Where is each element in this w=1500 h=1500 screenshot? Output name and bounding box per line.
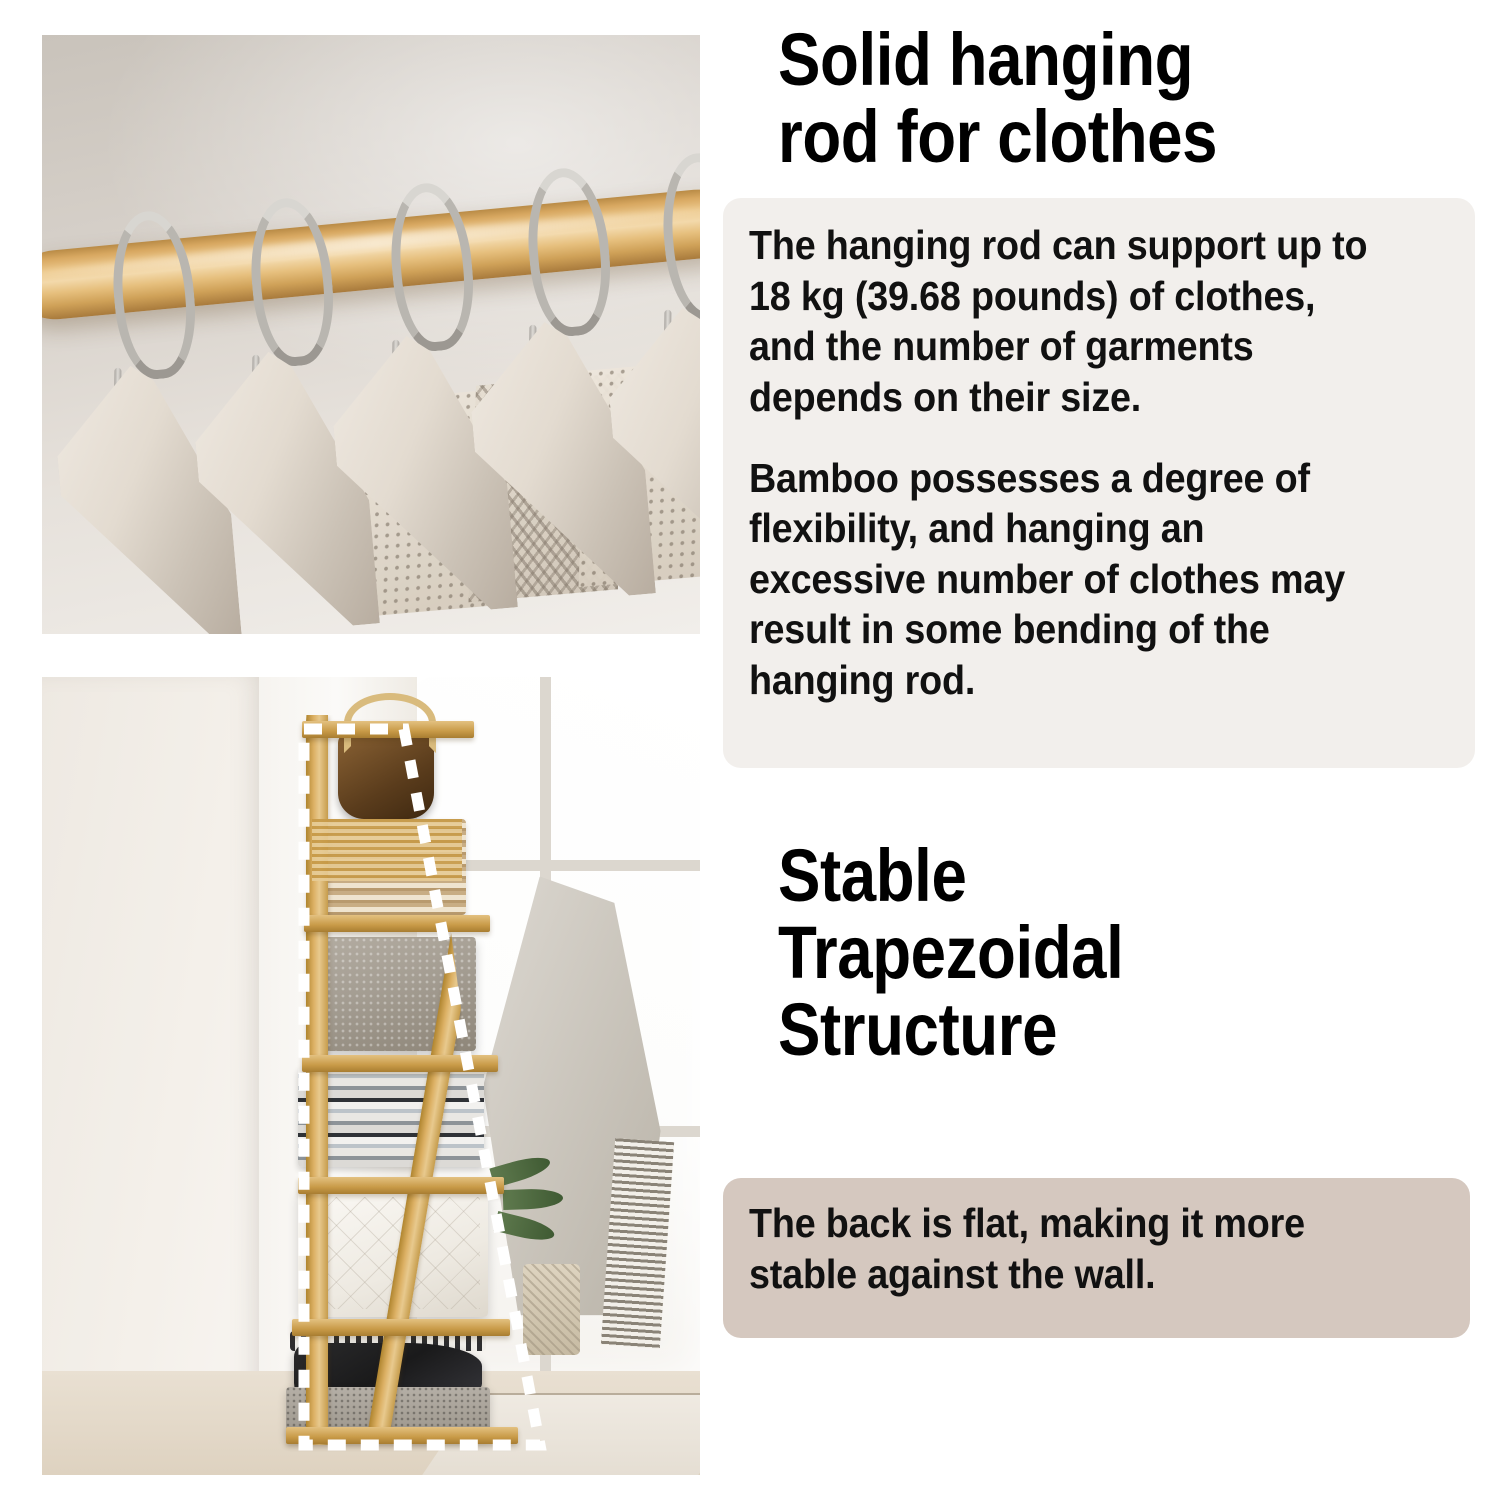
headline-trapezoidal-structure: Stable Trapezoidal Structure — [778, 838, 1123, 1069]
headline-hanging-rod: Solid hanging rod for clothes — [778, 22, 1217, 176]
caption-paragraph-flexibility: Bamboo possesses a degree of flexibility… — [749, 453, 1389, 706]
shelf-board — [304, 915, 490, 932]
shelf-board — [302, 1055, 498, 1072]
shelf-board — [298, 1177, 504, 1194]
room-wall — [42, 677, 259, 1475]
shelf-board — [286, 1427, 518, 1444]
bamboo-shelf-unit — [260, 715, 518, 1445]
caption-box-hanging-rod: The hanging rod can support up to 18 kg … — [723, 198, 1475, 768]
hanging-rod-photo — [42, 35, 700, 634]
text-column: Solid hanging rod for clothes The hangin… — [723, 0, 1483, 1500]
caption-box-stability: The back is flat, making it more stable … — [723, 1178, 1470, 1338]
potted-plant — [509, 1148, 608, 1355]
plant-pot — [523, 1264, 580, 1355]
shelf-slats — [312, 819, 462, 881]
trapezoidal-shelf-photo — [42, 677, 700, 1475]
caption-paragraph-flat-back: The back is flat, making it more stable … — [749, 1198, 1385, 1299]
infographic-page: Solid hanging rod for clothes The hangin… — [0, 0, 1500, 1500]
shelf-board — [302, 721, 474, 738]
shelf-board — [292, 1319, 510, 1336]
caption-paragraph-capacity: The hanging rod can support up to 18 kg … — [749, 220, 1389, 423]
